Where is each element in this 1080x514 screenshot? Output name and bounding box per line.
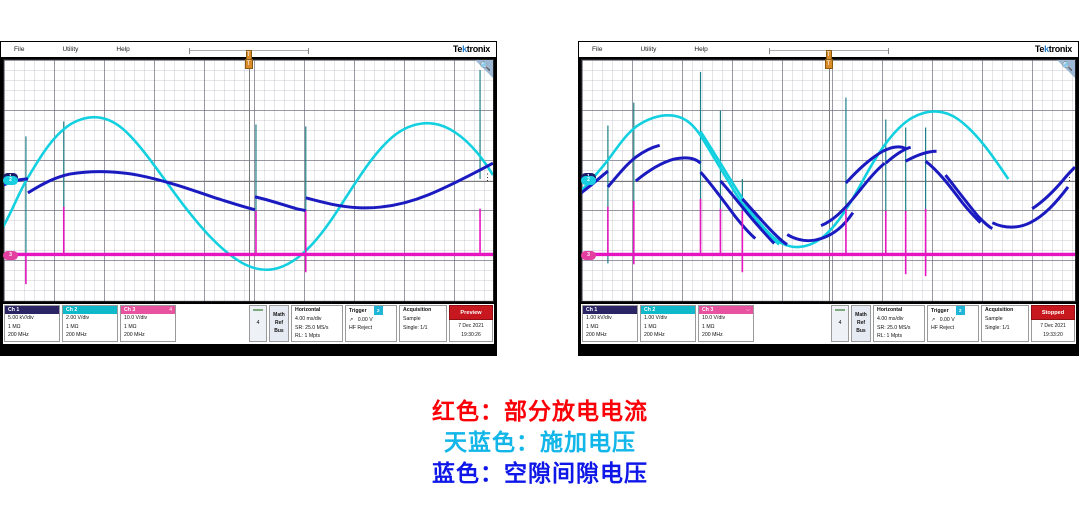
acquisition-state-right: Single: 1/1 — [985, 324, 1025, 333]
channel-readout-ch3-name-right: Ch 3 — [702, 307, 713, 313]
channel-readout-ch2-impedance-right: 1 MΩ — [641, 323, 695, 332]
trigger-source-badge[interactable]: 2 — [374, 306, 383, 315]
trigger-title-right: Trigger 2 — [931, 306, 975, 316]
screenshot-root: File Utility Help Tektronix T — [0, 0, 1080, 514]
bus-label-right: Bus — [852, 327, 870, 335]
acquisition-panel[interactable]: Acquisition Sample Single: 1/1 — [399, 305, 447, 342]
status-bar-right: Ch 1 1.00 kV/div 1 MΩ 200 MHz Ch 2 1.00 … — [581, 304, 1076, 344]
channel-readout-ch1-impedance-right: 1 MΩ — [583, 323, 637, 332]
trace-ch2-applied-voltage-right — [582, 115, 779, 244]
legend-line-cyan: 天蓝色：施加电压 — [0, 427, 1080, 458]
menu-help-right[interactable]: Help — [690, 42, 711, 58]
trigger-level-row-right: ↗ 0.00 V — [931, 316, 975, 325]
run-state-box-right[interactable]: Stopped 7 Dec 2021 19:33:20 — [1031, 305, 1075, 342]
cursor-dots-right-2: ⋮ — [1065, 175, 1074, 179]
channel-readout-ch3-scale-right: 10.0 V/div — [699, 314, 753, 323]
channel-readout-ch3-impedance: 1 MΩ — [121, 323, 175, 332]
oscilloscope-window-left: File Utility Help Tektronix T — [0, 41, 497, 356]
trace-ch2-applied-voltage-right-2 — [701, 111, 1009, 247]
legend-line-blue: 蓝色：空隙间隙电压 — [0, 458, 1080, 489]
channel-3-marker[interactable]: 3 — [3, 251, 18, 260]
math-label: Math — [270, 311, 288, 319]
channel-4-color-bar-right — [835, 309, 845, 311]
trigger-slope-icon-right: ↗ — [931, 317, 935, 323]
channel-readout-ch2-bandwidth: 200 MHz — [63, 331, 117, 340]
channel-2-marker-right[interactable]: 2 — [581, 176, 596, 185]
horizontal-panel[interactable]: Horizontal 4.00 ms/div SR: 25.0 MS/s RL:… — [291, 305, 343, 342]
acquisition-mode: Sample — [403, 315, 443, 324]
horizontal-panel-right[interactable]: Horizontal 4.00 ms/div SR: 25.0 MS/s RL:… — [873, 305, 925, 342]
horizontal-timebase-right: 4.00 ms/div — [877, 315, 921, 324]
menu-file[interactable]: File — [10, 42, 28, 58]
trace-ch1-gap-voltage-seg4 — [306, 163, 493, 208]
color-legend: 红色：部分放电电流 天蓝色：施加电压 蓝色：空隙间隙电压 — [0, 396, 1080, 489]
magnifier-icon[interactable]: 🔍 — [480, 61, 491, 72]
date-text: 7 Dec 2021 — [450, 322, 492, 331]
trigger-source-badge-right[interactable]: 2 — [956, 306, 965, 315]
channel-readout-ch3[interactable]: Ch 3 4 10.0 V/div 1 MΩ 200 MHz — [120, 305, 176, 342]
run-state-badge-right[interactable]: Stopped — [1031, 305, 1075, 320]
math-ref-bus-button-right[interactable]: Math Ref Bus — [851, 305, 871, 342]
datetime-readout: 7 Dec 2021 19:30:26 — [449, 320, 493, 342]
channel-4-button-right[interactable]: 4 — [831, 305, 849, 342]
ref-label-right: Ref — [852, 319, 870, 327]
trigger-title-text: Trigger — [349, 308, 367, 314]
record-navigation-track[interactable] — [189, 48, 309, 54]
horizontal-sample-rate-right: SR: 25.0 MS/s — [877, 324, 921, 333]
time-text-right: 19:33:20 — [1032, 331, 1074, 340]
channel-readout-ch3-bandwidth-right: 200 MHz — [699, 331, 753, 340]
channel-readout-ch1-header-right: Ch 1 — [583, 306, 637, 314]
channel-readout-ch2-right[interactable]: Ch 2 1.00 V/div 1 MΩ 200 MHz — [640, 305, 696, 342]
channel-readout-ch1-scale-right: 1.00 kV/div — [583, 314, 637, 323]
menu-help[interactable]: Help — [112, 42, 133, 58]
channel-readout-ch1-scale: 5.00 kV/div — [5, 314, 59, 323]
trigger-panel-right[interactable]: Trigger 2 ↗ 0.00 V HF Reject — [927, 305, 979, 342]
run-state-box[interactable]: Preview 7 Dec 2021 19:30:26 — [449, 305, 493, 342]
channel-readout-ch2[interactable]: Ch 2 2.00 V/div 1 MΩ 200 MHz — [62, 305, 118, 342]
trigger-coupling-right: HF Reject — [931, 324, 975, 333]
horizontal-title: Horizontal — [295, 306, 339, 315]
menu-file-right[interactable]: File — [588, 42, 606, 58]
channel-readout-ch1-right[interactable]: Ch 1 1.00 kV/div 1 MΩ 200 MHz — [582, 305, 638, 342]
waveform-traces-left — [4, 60, 493, 301]
run-state-badge[interactable]: Preview — [449, 305, 493, 320]
channel-readout-ch2-scale-right: 1.00 V/div — [641, 314, 695, 323]
channel-4-label: 4 — [250, 320, 266, 326]
channel-readout-ch1-bandwidth: 200 MHz — [5, 331, 59, 340]
acquisition-state: Single: 1/1 — [403, 324, 443, 333]
menu-utility-right[interactable]: Utility — [636, 42, 660, 58]
time-text: 19:30:26 — [450, 331, 492, 340]
channel-readout-ch2-bandwidth-right: 200 MHz — [641, 331, 695, 340]
trigger-panel[interactable]: Trigger 2 ↗ 0.00 V HF Reject — [345, 305, 397, 342]
math-label-right: Math — [852, 311, 870, 319]
trigger-coupling: HF Reject — [349, 324, 393, 333]
tektronix-logo-right: Tektronix — [1035, 44, 1072, 54]
trace-ch1-gap-voltage-seg2 — [28, 172, 255, 210]
channel-readout-ch2-impedance: 1 MΩ — [63, 323, 117, 332]
pd-current-impulses — [26, 207, 480, 284]
cursor-dots-right: ⋮ — [483, 175, 492, 179]
status-bar-left: Ch 1 5.00 kV/div 1 MΩ 200 MHz Ch 2 2.00 … — [3, 304, 494, 344]
channel-readout-ch3-mini-right: ⌵ — [746, 306, 750, 314]
graticule-right[interactable]: T — [581, 59, 1076, 302]
trigger-title-text-right: Trigger — [931, 308, 949, 314]
trace-ch2-applied-voltage — [4, 117, 493, 270]
channel-readout-ch3-name: Ch 3 — [124, 307, 135, 313]
acquisition-panel-right[interactable]: Acquisition Sample Single: 1/1 — [981, 305, 1029, 342]
oscilloscope-window-right: File Utility Help Tektronix T — [578, 41, 1079, 356]
channel-4-button[interactable]: 4 — [249, 305, 267, 342]
record-navigation-track-right[interactable] — [769, 48, 889, 54]
horizontal-sample-rate: SR: 25.0 MS/s — [295, 324, 339, 333]
channel-readout-ch2-header: Ch 2 — [63, 306, 117, 314]
channel-2-marker[interactable]: 2 — [3, 176, 18, 185]
horizontal-record-length: RL: 1 Mpts — [295, 332, 339, 341]
acquisition-mode-right: Sample — [985, 315, 1025, 324]
menu-utility[interactable]: Utility — [58, 42, 82, 58]
bus-label: Bus — [270, 327, 288, 335]
trigger-level: 0.00 V — [358, 317, 373, 323]
channel-3-marker-right[interactable]: 3 — [581, 251, 596, 260]
menu-bar-left: File Utility Help Tektronix — [1, 42, 496, 58]
trigger-level-right: 0.00 V — [940, 317, 955, 323]
channel-readout-ch3-header-right: Ch 3 ⌵ — [699, 306, 753, 314]
channel-readout-ch3-impedance-right: 1 MΩ — [699, 323, 753, 332]
graticule-left[interactable]: T — [3, 59, 494, 302]
horizontal-timebase: 4.00 ms/div — [295, 315, 339, 324]
channel-readout-ch3-bandwidth: 200 MHz — [121, 331, 175, 340]
math-ref-bus-button[interactable]: Math Ref Bus — [269, 305, 289, 342]
datetime-readout-right: 7 Dec 2021 19:33:20 — [1031, 320, 1075, 342]
acquisition-title-right: Acquisition — [985, 306, 1025, 315]
channel-4-color-bar — [253, 309, 263, 311]
legend-line-red: 红色：部分放电电流 — [0, 396, 1080, 427]
channel-readout-ch1[interactable]: Ch 1 5.00 kV/div 1 MΩ 200 MHz — [4, 305, 60, 342]
date-text-right: 7 Dec 2021 — [1032, 322, 1074, 331]
horizontal-title-right: Horizontal — [877, 306, 921, 315]
menu-bar-right: File Utility Help Tektronix — [579, 42, 1078, 58]
magnifier-icon-right[interactable]: 🔍 — [1062, 61, 1073, 72]
channel-readout-ch3-scale: 10.0 V/div — [121, 314, 175, 323]
channel-readout-ch2-scale: 2.00 V/div — [63, 314, 117, 323]
trace-ch1-gap-voltage-right — [582, 145, 1075, 244]
waveform-traces-right — [582, 60, 1075, 301]
channel-readout-ch3-header: Ch 3 4 — [121, 306, 175, 314]
acquisition-title: Acquisition — [403, 306, 443, 315]
channel-readout-ch3-mini: 4 — [169, 306, 172, 314]
trace-ch1-gap-voltage-seg3 — [255, 197, 306, 211]
trigger-level-row: ↗ 0.00 V — [349, 316, 393, 325]
channel-readout-ch3-right[interactable]: Ch 3 ⌵ 10.0 V/div 1 MΩ 200 MHz — [698, 305, 754, 342]
ref-label: Ref — [270, 319, 288, 327]
horizontal-record-length-right: RL: 1 Mpts — [877, 332, 921, 341]
channel-readout-ch2-header-right: Ch 2 — [641, 306, 695, 314]
pd-event-guides-right — [608, 72, 926, 273]
trigger-slope-icon: ↗ — [349, 317, 353, 323]
channel-readout-ch1-header: Ch 1 — [5, 306, 59, 314]
pd-event-guides — [26, 70, 480, 280]
channel-readout-ch1-bandwidth-right: 200 MHz — [583, 331, 637, 340]
channel-readout-ch1-impedance: 1 MΩ — [5, 323, 59, 332]
channel-4-label-right: 4 — [832, 320, 848, 326]
trigger-title: Trigger 2 — [349, 306, 393, 316]
tektronix-logo: Tektronix — [453, 44, 490, 54]
